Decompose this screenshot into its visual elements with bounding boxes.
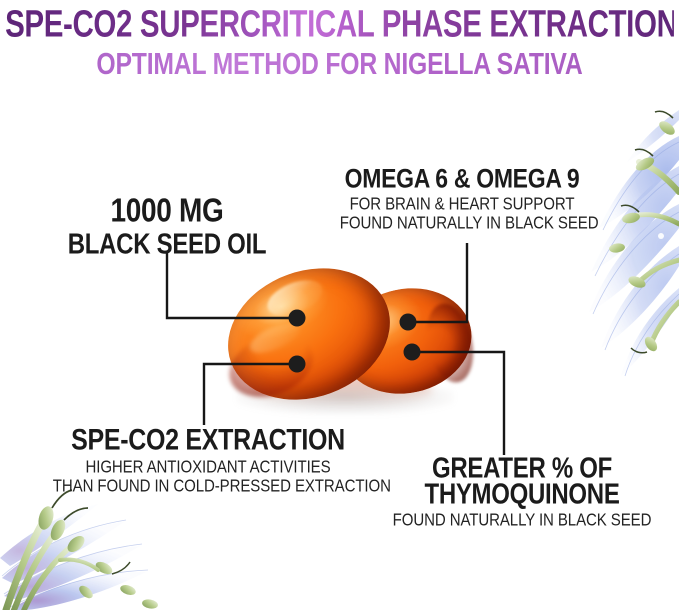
softgel-capsules <box>200 255 490 440</box>
callout-extraction-line-2: THAN FOUND IN COLD-PRESSED EXTRACTION <box>53 476 363 497</box>
callout-omega-heading: OMEGA 6 & OMEGA 9 <box>336 164 588 194</box>
callout-dosage: 1000 MG BLACK SEED OIL <box>52 196 282 259</box>
header-band: SPE-CO2 SUPERCRITICAL PHASE EXTRACTION O… <box>0 0 679 92</box>
callout-thymoquinone: GREATER % OF THYMOQUINONE FOUND NATURALL… <box>386 456 658 530</box>
callout-dosage-subheading: BLACK SEED OIL <box>52 227 282 261</box>
callout-omega-line-2: FOUND NATURALLY IN BLACK SEED <box>340 213 584 234</box>
callout-dosage-heading: 1000 MG <box>52 193 282 228</box>
callout-thymoquinone-line-1: FOUND NATURALLY IN BLACK SEED <box>390 510 654 531</box>
callout-omega: OMEGA 6 & OMEGA 9 FOR BRAIN & HEART SUPP… <box>336 166 588 233</box>
page-subtitle: OPTIMAL METHOD FOR NIGELLA SATIVA <box>3 46 675 83</box>
callout-extraction-heading: SPE-CO2 EXTRACTION <box>48 423 368 456</box>
callout-thymoquinone-heading-2: THYMOQUINONE <box>386 480 658 511</box>
callout-extraction: SPE-CO2 EXTRACTION HIGHER ANTIOXIDANT AC… <box>48 426 368 496</box>
nigella-sativa-flower-right <box>587 96 679 386</box>
infographic-canvas: SPE-CO2 SUPERCRITICAL PHASE EXTRACTION O… <box>0 0 679 610</box>
page-title: SPE-CO2 SUPERCRITICAL PHASE EXTRACTION <box>5 1 674 49</box>
